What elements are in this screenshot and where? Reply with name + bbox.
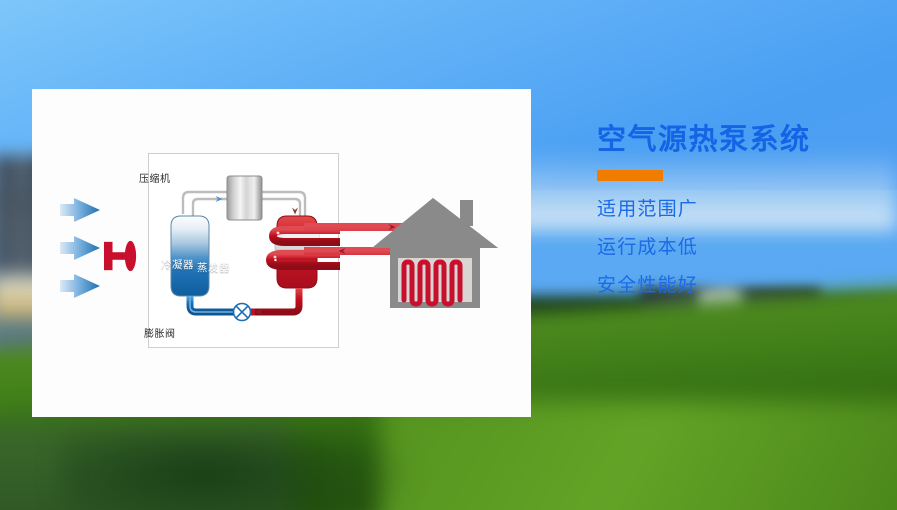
- fan-unit-icon: [104, 236, 138, 276]
- condenser-body: [171, 216, 209, 296]
- condenser-label: 冷凝器: [161, 257, 194, 272]
- evaporator-label: 蒸发器: [197, 260, 230, 275]
- air-flow-arrow-icon: [60, 274, 100, 298]
- air-flow-arrow-icon: [60, 236, 100, 260]
- list-item: 运行成本低: [597, 238, 887, 257]
- diagram-card: 压缩机 膨胀阀 冷凝器 蒸发器: [32, 89, 531, 417]
- list-item: 安全性能好: [597, 276, 887, 295]
- house-icon: [376, 196, 500, 308]
- compressor-body: [227, 176, 262, 220]
- accent-bar: [597, 170, 663, 181]
- air-flow-arrow-icon: [60, 198, 100, 222]
- building-group: [376, 196, 500, 308]
- headline-column: 空气源热泵系统 适用范围广 运行成本低 安全性能好: [597, 125, 887, 314]
- list-item: 适用范围广: [597, 200, 887, 219]
- expansion-valve-symbol: [234, 304, 251, 321]
- slide-canvas: 压缩机 膨胀阀 冷凝器 蒸发器: [0, 0, 897, 510]
- page-title: 空气源热泵系统: [597, 125, 887, 157]
- expansion-valve-label: 膨胀阀: [144, 325, 176, 340]
- compressor-label: 压缩机: [139, 170, 171, 185]
- feature-list: 适用范围广 运行成本低 安全性能好: [597, 200, 887, 295]
